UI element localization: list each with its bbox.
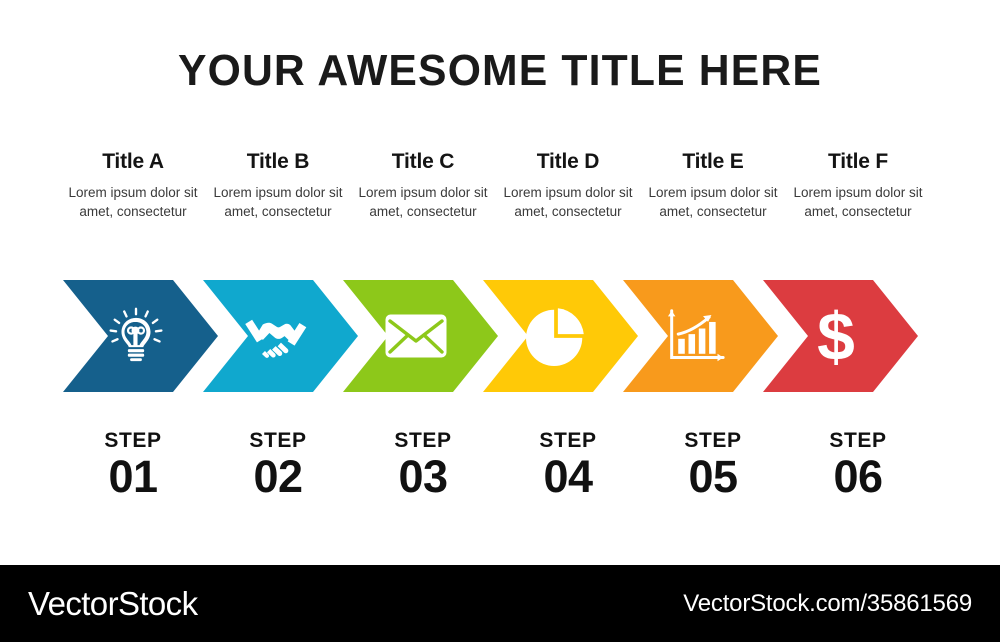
column-e: Title E Lorem ipsum dolor sit amet, cons… [643,150,783,221]
step-label: STEP [788,430,928,451]
step-number: 04 [498,453,638,500]
column-d: Title D Lorem ipsum dolor sit amet, cons… [498,150,638,221]
step-number: 01 [63,453,203,500]
column-description: Lorem ipsum dolor sit amet, consectetur [208,184,348,221]
column-title: Title D [498,150,638,173]
column-description: Lorem ipsum dolor sit amet, consectetur [63,184,203,221]
step-4: STEP 04 [498,430,638,500]
step-3: STEP 03 [353,430,493,500]
brand-logo: VectorStock [28,585,198,623]
column-b: Title B Lorem ipsum dolor sit amet, cons… [208,150,348,221]
column-title: Title C [353,150,493,173]
chevron-step-6[interactable]: $ [763,280,953,392]
step-number: 03 [353,453,493,500]
column-title: Title E [643,150,783,173]
step-5: STEP 05 [643,430,783,500]
page-title: YOUR AWESOME TITLE HERE [15,46,985,96]
step-1: STEP 01 [63,430,203,500]
column-description: Lorem ipsum dolor sit amet, consectetur [643,184,783,221]
steps-row: STEP 01 STEP 02 STEP 03 STEP 04 STEP 05 … [63,430,928,500]
column-headings: Title A Lorem ipsum dolor sit amet, cons… [63,150,928,221]
step-label: STEP [498,430,638,451]
watermark-bar: VectorStock VectorStock.com/35861569 [0,565,1000,642]
chevron-polygon [63,280,218,392]
column-description: Lorem ipsum dolor sit amet, consectetur [498,184,638,221]
step-number: 06 [788,453,928,500]
chevron-band: $ [0,280,1000,394]
step-label: STEP [353,430,493,451]
chevron-polygon [483,280,638,392]
column-description: Lorem ipsum dolor sit amet, consectetur [788,184,928,221]
column-f: Title F Lorem ipsum dolor sit amet, cons… [788,150,928,221]
column-title: Title A [63,150,203,173]
step-label: STEP [643,430,783,451]
step-number: 05 [643,453,783,500]
column-a: Title A Lorem ipsum dolor sit amet, cons… [63,150,203,221]
chevron-polygon [203,280,358,392]
column-c: Title C Lorem ipsum dolor sit amet, cons… [353,150,493,221]
chevron-polygon [763,280,918,392]
column-title: Title F [788,150,928,173]
chevron-polygon [343,280,498,392]
column-title: Title B [208,150,348,173]
watermark-url: VectorStock.com/35861569 [683,590,972,618]
step-label: STEP [63,430,203,451]
step-label: STEP [208,430,348,451]
column-description: Lorem ipsum dolor sit amet, consectetur [353,184,493,221]
chevron-shape [763,280,953,392]
step-2: STEP 02 [208,430,348,500]
infographic-canvas: YOUR AWESOME TITLE HERE Title A Lorem ip… [0,0,1000,642]
chevron-polygon [623,280,778,392]
step-6: STEP 06 [788,430,928,500]
step-number: 02 [208,453,348,500]
